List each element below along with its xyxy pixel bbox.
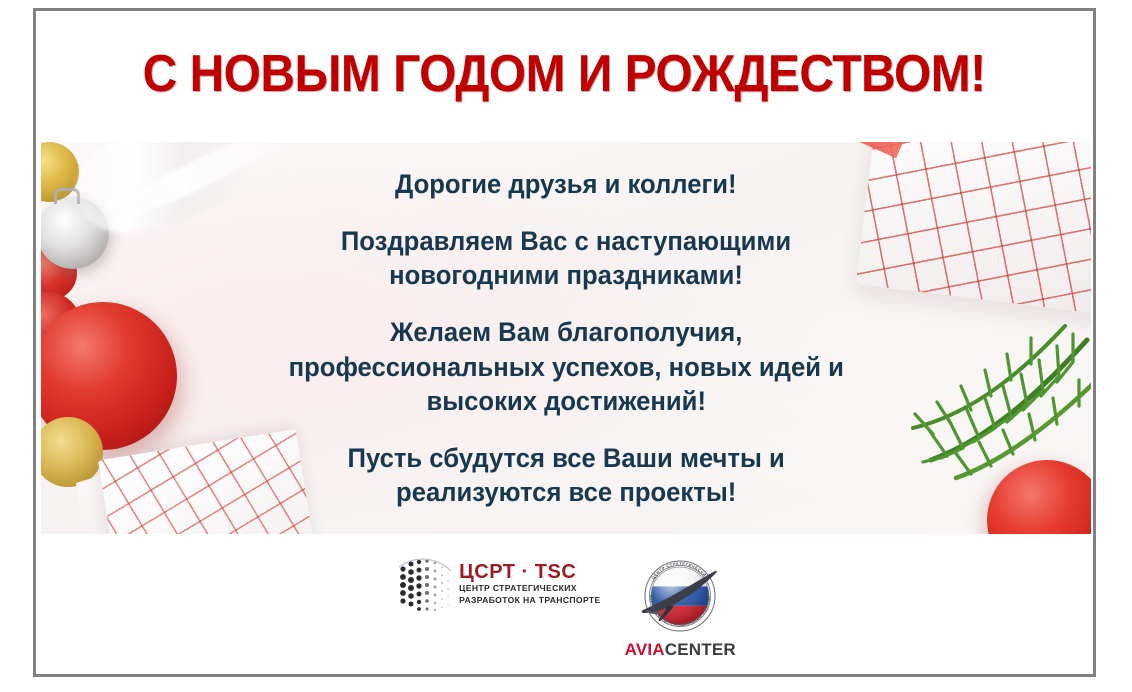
message-paragraph-1: Дорогие друзья и коллеги!	[395, 167, 737, 201]
dotted-globe-icon	[393, 553, 455, 615]
tsc-wordmark: ЦСРТ · TSC ЦЕНТР СТРАТЕГИЧЕСКИХ РАЗРАБОТ…	[459, 562, 600, 606]
greeting-card: С НОВЫМ ГОДОМ И РОЖДЕСТВОМ!	[33, 8, 1096, 677]
tsc-subtitle-line-2: РАЗРАБОТОК НА ТРАНСПОРТЕ	[459, 595, 600, 606]
tsc-name: ЦСРТ · TSC	[459, 562, 600, 583]
tsc-subtitle-line-1: ЦЕНТР СТРАТЕГИЧЕСКИХ	[459, 583, 600, 594]
decorative-photo-band: Дорогие друзья и коллеги! Поздравляем Ва…	[41, 142, 1091, 534]
message-paragraph-2: Поздравляем Вас с наступающими новогодни…	[341, 224, 791, 292]
footer-logos: ЦСРТ · TSC ЦЕНТР СТРАТЕГИЧЕСКИХ РАЗРАБОТ…	[36, 539, 1093, 674]
logo-tsc[interactable]: ЦСРТ · TSC ЦЕНТР СТРАТЕГИЧЕСКИХ РАЗРАБОТ…	[393, 553, 600, 615]
aviacenter-emblem-icon: ЦЕНТР СТРАТЕГИЧЕСКИХ РАЗРАБОТОК В ГРАЖДА…	[637, 553, 723, 639]
aviacenter-word-center: CENTER	[665, 640, 736, 659]
aviacenter-word-avia: AVIA	[625, 640, 665, 659]
title-area: С НОВЫМ ГОДОМ И РОЖДЕСТВОМ!	[36, 11, 1093, 136]
message-paragraph-3: Желаем Вам благополучия, профессиональны…	[288, 315, 843, 417]
message-block: Дорогие друзья и коллеги! Поздравляем Ва…	[41, 142, 1091, 534]
logo-aviacenter[interactable]: ЦЕНТР СТРАТЕГИЧЕСКИХ РАЗРАБОТОК В ГРАЖДА…	[625, 553, 736, 658]
aviacenter-wordmark: AVIACENTER	[625, 641, 736, 658]
page-title: С НОВЫМ ГОДОМ И РОЖДЕСТВОМ!	[143, 48, 986, 100]
message-paragraph-4: Пусть сбудутся все Ваши мечты и реализую…	[347, 441, 784, 509]
